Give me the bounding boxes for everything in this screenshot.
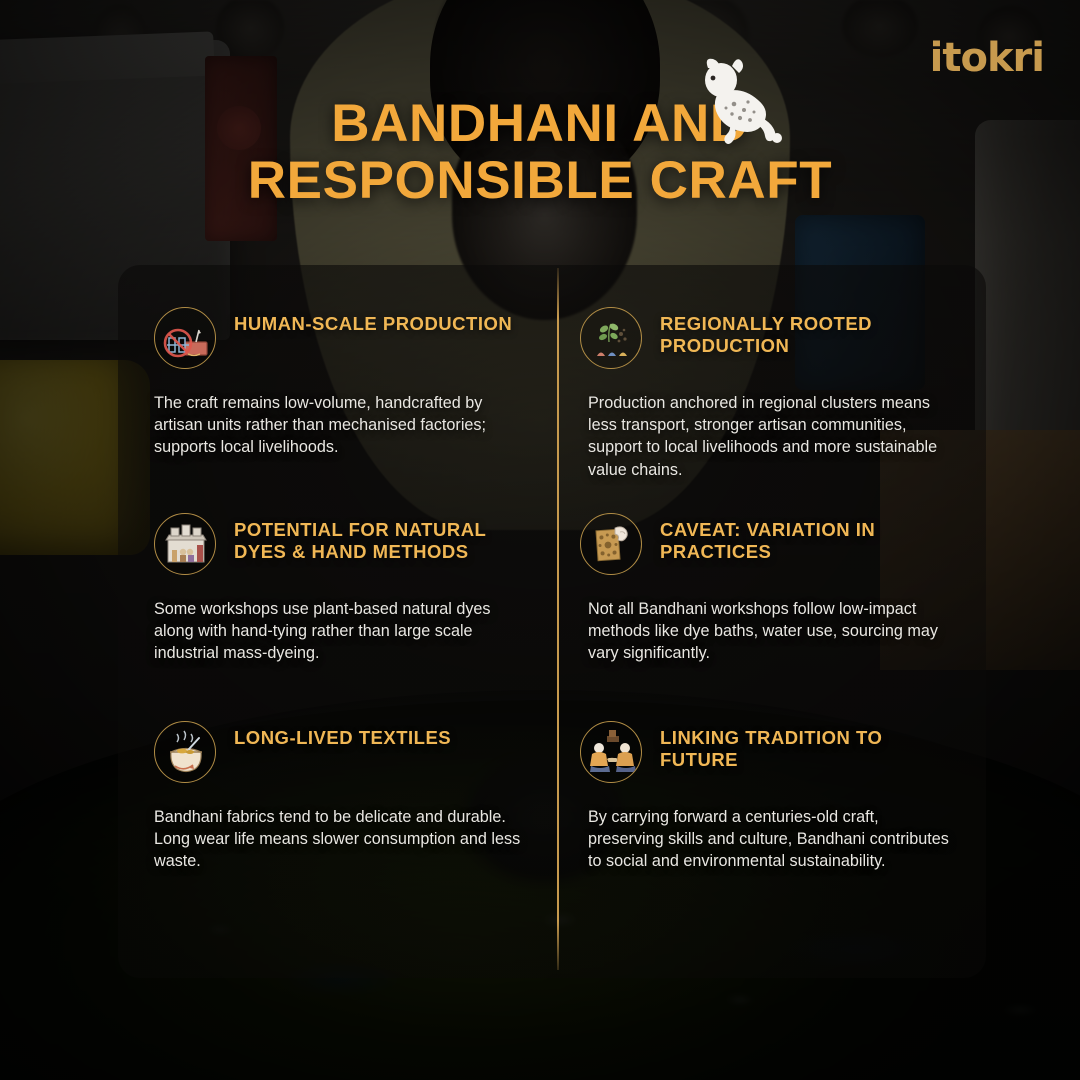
no-factory-icon [154,307,216,369]
benefits-grid: HUMAN-SCALE PRODUCTION The craft remains… [118,265,986,978]
card-body: The craft remains low-volume, handcrafte… [154,392,522,459]
page-title: BANDHANI AND RESPONSIBLE CRAFT [0,96,1080,209]
card-body: By carrying forward a centuries-old craf… [588,806,950,873]
card-header: LINKING TRADITION TO FUTURE [580,721,950,783]
card-header: LONG-LIVED TEXTILES [154,721,522,783]
card-title: CAVEAT: VARIATION IN PRACTICES [660,513,950,563]
card-title: HUMAN-SCALE PRODUCTION [234,307,512,335]
card-body: Production anchored in regional clusters… [588,392,950,481]
hand-holding-fabric-icon [580,513,642,575]
card-body: Bandhani fabrics tend to be delicate and… [154,806,522,873]
card-header: POTENTIAL FOR NATURAL DYES & HAND METHOD… [154,513,522,575]
infographic-poster: itokri BANDHANI AND RESPONSIBLE CRAFT [0,0,1080,1080]
card-body: Some workshops use plant-based natural d… [154,598,522,665]
page-title-line-1: BANDHANI AND [0,96,1080,153]
card-body: Not all Bandhani workshops follow low-im… [588,598,950,665]
card-caveat-variation-in-practices: CAVEAT: VARIATION IN PRACTICES Not all B… [558,513,986,721]
card-header: HUMAN-SCALE PRODUCTION [154,307,522,369]
brand-logo-itokri[interactable]: itokri [930,38,1044,78]
card-header: CAVEAT: VARIATION IN PRACTICES [580,513,950,575]
card-regionally-rooted-production: REGIONALLY ROOTED PRODUCTION Production … [558,307,986,513]
two-artisans-icon [580,721,642,783]
card-natural-dyes-hand-methods: POTENTIAL FOR NATURAL DYES & HAND METHOD… [118,513,558,721]
steaming-dye-pot-icon [154,721,216,783]
page-title-line-2: RESPONSIBLE CRAFT [0,153,1080,210]
card-long-lived-textiles: LONG-LIVED TEXTILES Bandhani fabrics ten… [118,721,558,936]
card-title: REGIONALLY ROOTED PRODUCTION [660,307,950,357]
card-title: LINKING TRADITION TO FUTURE [660,721,950,771]
workshop-building-icon [154,513,216,575]
card-header: REGIONALLY ROOTED PRODUCTION [580,307,950,369]
plant-dye-powders-icon [580,307,642,369]
card-title: POTENTIAL FOR NATURAL DYES & HAND METHOD… [234,513,522,563]
card-human-scale-production: HUMAN-SCALE PRODUCTION The craft remains… [118,307,558,513]
card-title: LONG-LIVED TEXTILES [234,721,451,749]
card-linking-tradition-to-future: LINKING TRADITION TO FUTURE By carrying … [558,721,986,936]
